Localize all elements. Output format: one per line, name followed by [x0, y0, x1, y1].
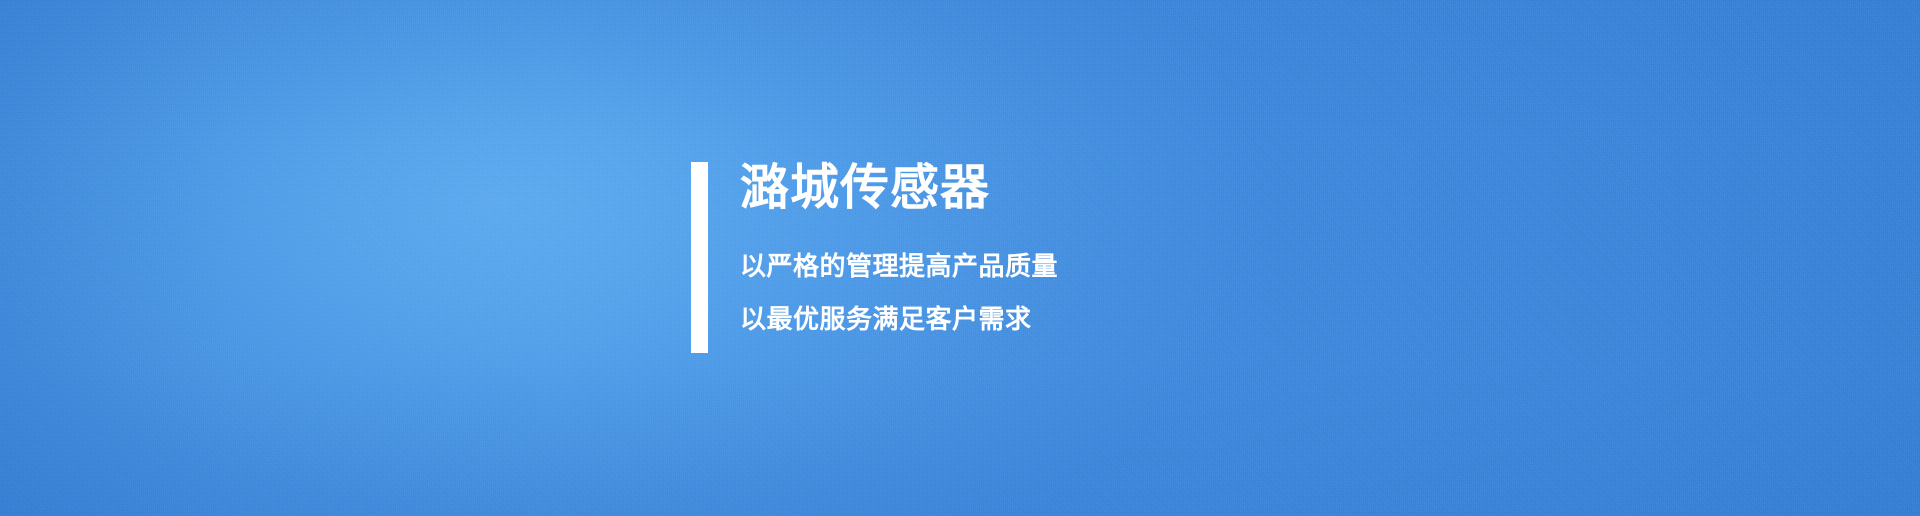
hero-banner: 潞城传感器 以严格的管理提高产品质量 以最优服务满足客户需求: [0, 0, 1920, 516]
banner-content: 潞城传感器 以严格的管理提高产品质量 以最优服务满足客户需求: [691, 162, 1058, 353]
accent-bar: [691, 162, 708, 353]
tagline-secondary: 以最优服务满足客户需求: [740, 304, 1058, 334]
banner-text-column: 潞城传感器 以严格的管理提高产品质量 以最优服务满足客户需求: [740, 162, 1058, 334]
tagline-primary: 以严格的管理提高产品质量: [740, 251, 1058, 281]
page-title: 潞城传感器: [740, 162, 1058, 214]
